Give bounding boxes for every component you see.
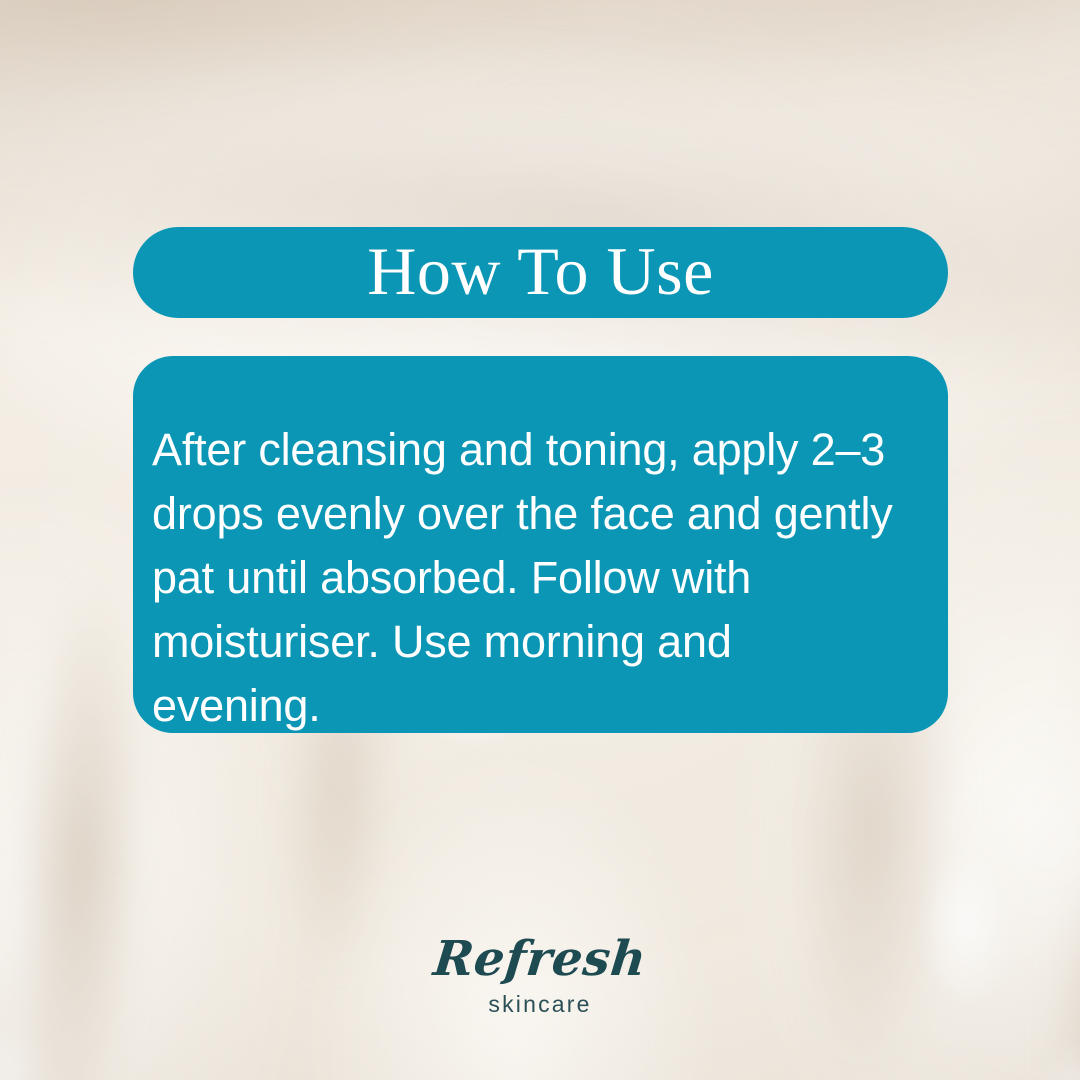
instructions-text: After cleansing and toning, apply 2–3 dr… <box>152 418 902 738</box>
brand-tagline: skincare <box>0 991 1080 1017</box>
title-pill: How To Use <box>133 227 948 318</box>
instructions-card: After cleansing and toning, apply 2–3 dr… <box>133 356 948 733</box>
brand-logo: Refresh skincare <box>0 934 1080 1017</box>
page-title: How To Use <box>367 237 714 305</box>
brand-name: Refresh <box>0 934 1080 984</box>
poster-canvas: How To Use After cleansing and toning, a… <box>0 0 1080 1080</box>
